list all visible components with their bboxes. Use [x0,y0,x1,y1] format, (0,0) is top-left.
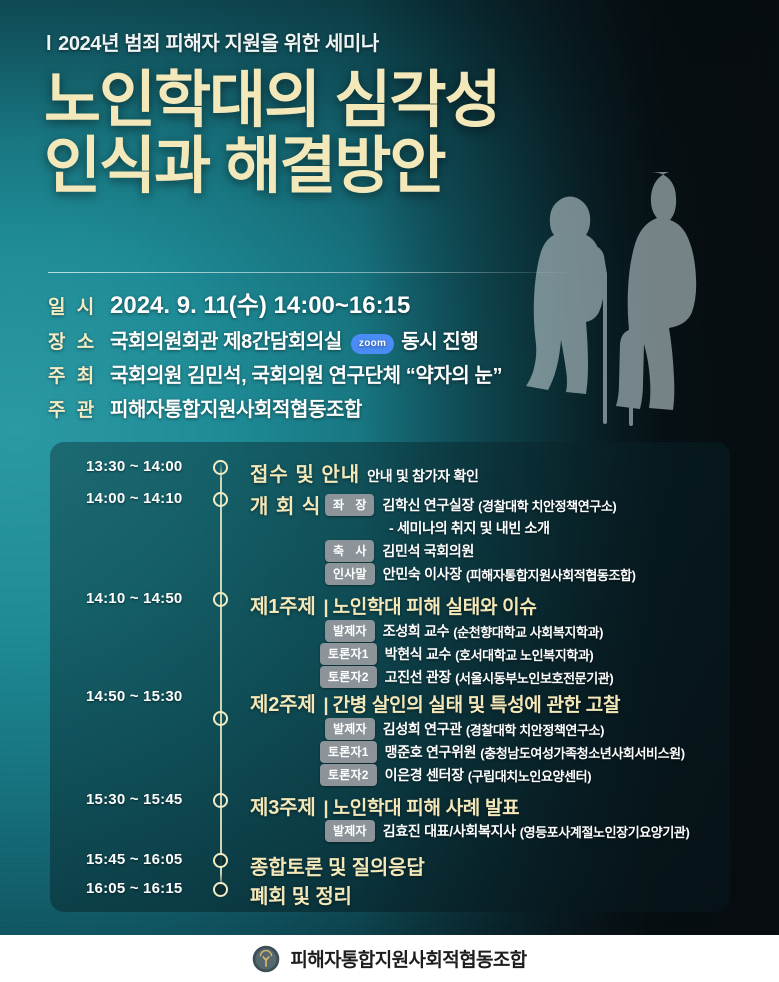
schedule-time: 13:30 ~ 14:00 [86,458,206,475]
venue-mode: 동시 진행 [401,331,478,353]
organization-name: 피해자통합지원사회적협동조합 [290,945,526,972]
info-label-host: 주 최 [48,361,110,388]
schedule-time: 14:10 ~ 14:50 [86,590,206,607]
person-name: 김성희 연구관 [383,719,462,739]
schedule-detail: 발제자 김효진 대표/사회복지사 (영등포사계절노인장기요양기관) [325,820,689,842]
schedule-title: 제1주제 [250,596,316,618]
schedule-title: 접수 및 안내 [250,464,360,486]
timeline-dot [213,492,228,507]
info-label-date: 일 시 [48,292,110,319]
poster-footer: 피해자통합지원사회적협동조합 [0,935,779,982]
schedule-time: 16:05 ~ 16:15 [86,880,206,897]
person-name: 김민석 국회의원 [382,541,474,561]
info-row-venue: 장 소 국회의원회관 제8간담회의실zoom동시 진행 [48,325,688,354]
schedule-time: 15:30 ~ 15:45 [86,791,206,808]
person-name: 박현식 교수 [385,644,452,664]
schedule-heading: 제3주제|노인학대 피해 사례 발표 [250,791,519,820]
schedule-title: 제3주제 [250,797,316,819]
schedule-detail: 토론자1 박현식 교수 (호서대학교 노인복지학과) [320,643,593,665]
schedule-title: 개 회 식 [250,496,321,518]
schedule-detail: 토론자2 고진선 관장 (서울시동부노인보호전문기관) [320,666,613,688]
person-name: 이은경 센터장 [385,765,464,785]
schedule-heading: 제2주제|간병 살인의 실태 및 특성에 관한 고찰 [250,688,620,717]
schedule-title: 폐회 및 정리 [250,886,352,908]
seminar-tagline: l2024년 범죄 피해자 지원을 위한 세미나 [46,27,379,56]
poster-title: 노인학대의 심각성 인식과 해결방안 [44,68,664,200]
schedule-detail: 토론자1 맹준호 연구위원 (충청남도여성가족청소년사회서비스원) [320,741,685,763]
schedule-title: 제2주제 [250,694,316,716]
role-tag: 좌 장 [325,494,374,516]
schedule-detail: 발제자 조성희 교수 (순천향대학교 사회복지학과) [325,620,603,642]
person-affiliation: (순천향대학교 사회복지학과) [453,622,603,641]
person-name: 김효진 대표/사회복지사 [383,821,516,841]
organization-logo-icon [252,945,280,973]
schedule-detail: 인사말 안민숙 이사장 (피해자통합지원사회적협동조합) [325,563,636,585]
person-affiliation: (영등포사계절노인장기요양기관) [520,822,690,841]
schedule-time: 14:50 ~ 15:30 [86,688,206,705]
title-line-2: 인식과 해결방안 [44,134,664,200]
event-info-list: 일 시 2024. 9. 11(수) 14:00~16:15 장 소 국회의원회… [48,285,688,427]
person-affiliation: (경찰대학 치안정책연구소) [466,720,604,739]
seminar-poster: l2024년 범죄 피해자 지원을 위한 세미나 노인학대의 심각성 인식과 해… [0,0,779,982]
schedule-heading: 개 회 식 [250,490,321,519]
schedule-heading: 폐회 및 정리 [250,880,352,909]
schedule-topic: 노인학대 피해 실태와 이슈 [333,597,537,618]
person-affiliation: (서울시동부노인보호전문기관) [455,668,613,687]
person-name: 김학신 연구실장 [382,495,474,515]
info-value-date: 2024. 9. 11(수) 14:00~16:15 [110,285,410,320]
info-row-host: 주 최 국회의원 김민석, 국회의원 연구단체 “약자의 눈” [48,359,688,388]
venue-name: 국회의원회관 제8간담회의실 [110,331,342,353]
title-separator: | [324,695,329,715]
timeline-dot [213,793,228,808]
schedule-topic: 간병 살인의 실태 및 특성에 관한 고찰 [333,695,621,716]
info-value-host: 국회의원 김민석, 국회의원 연구단체 “약자의 눈” [110,359,502,388]
timeline-dot [213,711,228,726]
timeline-dot [213,853,228,868]
timeline-dot [213,460,228,475]
timeline-line [220,462,222,890]
role-tag: 축 사 [325,540,374,562]
schedule-title: 종합토론 및 질의응답 [250,857,425,879]
info-value-organizer: 피해자통합지원사회적협동조합 [110,393,362,422]
schedule-heading: 종합토론 및 질의응답 [250,851,425,880]
person-name: 조성희 교수 [383,621,450,641]
schedule-heading: 접수 및 안내안내 및 참가자 확인 [250,458,479,487]
timeline-dot [213,882,228,897]
role-tag: 인사말 [325,563,375,585]
info-label-venue: 장 소 [48,327,110,354]
person-name: 고진선 관장 [385,667,452,687]
info-label-organizer: 주 관 [48,395,110,422]
info-value-venue: 국회의원회관 제8간담회의실zoom동시 진행 [110,325,478,354]
tagline-bar: l [46,33,51,56]
timeline-dot [213,592,228,607]
title-line-1: 노인학대의 심각성 [44,66,500,135]
role-tag: 발제자 [325,718,375,740]
info-row-organizer: 주 관 피해자통합지원사회적협동조합 [48,393,688,422]
person-affiliation: (구립대치노인요양센터) [468,766,591,785]
title-separator: | [324,798,329,818]
person-name: 안민숙 이사장 [383,564,462,584]
role-tag: 토론자1 [320,643,377,665]
role-tag: 토론자2 [320,666,377,688]
person-affiliation: (경찰대학 치안정책연구소) [478,496,616,515]
person-affiliation: (충청남도여성가족청소년사회서비스원) [480,743,684,762]
title-separator: | [324,597,329,617]
schedule-topic: 노인학대 피해 사례 발표 [333,798,520,819]
role-tag: 발제자 [325,820,375,842]
person-affiliation: (호서대학교 노인복지학과) [455,645,593,664]
schedule-note: - 세미나의 취지 및 내빈 소개 [389,518,550,538]
schedule-time: 14:00 ~ 14:10 [86,490,206,507]
info-row-date: 일 시 2024. 9. 11(수) 14:00~16:15 [48,285,688,320]
person-affiliation: (피해자통합지원사회적협동조합) [466,565,636,584]
schedule-subtitle: 안내 및 참가자 확인 [367,468,478,484]
schedule-detail: 축 사 김민석 국회의원 [325,540,474,562]
header-divider [48,272,578,273]
tagline-text: 2024년 범죄 피해자 지원을 위한 세미나 [58,33,379,55]
schedule-detail: 토론자2 이은경 센터장 (구립대치노인요양센터) [320,764,591,786]
role-tag: 토론자1 [320,741,377,763]
zoom-badge-icon: zoom [351,334,394,354]
schedule-detail: 좌 장 김학신 연구실장 (경찰대학 치안정책연구소) [325,494,616,516]
schedule-time: 15:45 ~ 16:05 [86,851,206,868]
role-tag: 토론자2 [320,764,377,786]
person-name: 맹준호 연구위원 [385,742,477,762]
schedule-detail: 발제자 김성희 연구관 (경찰대학 치안정책연구소) [325,718,604,740]
schedule-heading: 제1주제|노인학대 피해 실태와 이슈 [250,590,537,619]
role-tag: 발제자 [325,620,375,642]
